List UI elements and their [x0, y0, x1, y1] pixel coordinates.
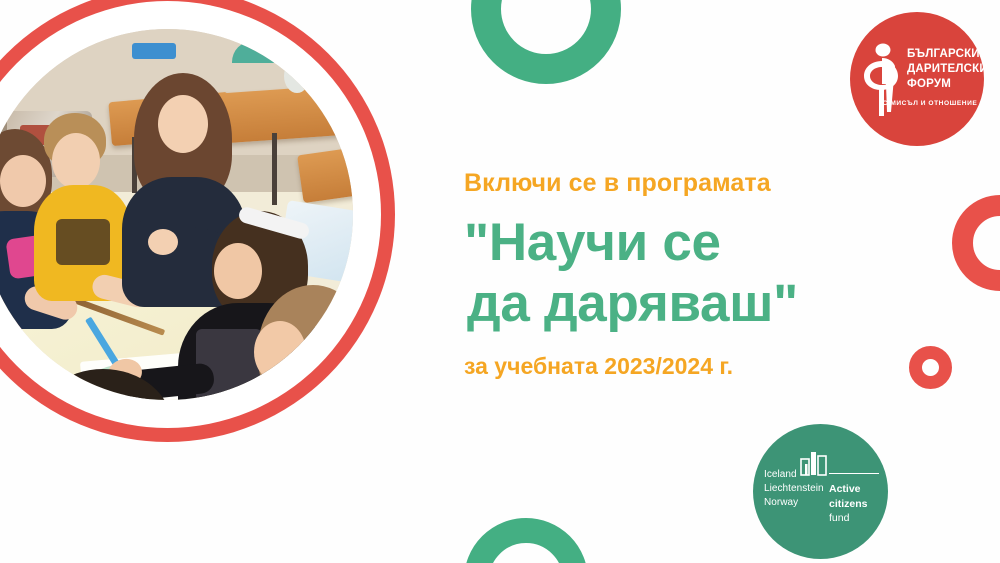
acf-country-liechtenstein: Liechtenstein	[764, 482, 824, 496]
tshirt-print	[56, 219, 110, 265]
wall-decoration-green	[312, 43, 352, 61]
acf-fund-name: Active citizens fund	[829, 482, 888, 526]
promo-slide: Включи се в програмата "Научи се да даря…	[0, 0, 1000, 563]
face	[158, 95, 208, 153]
desk-back-right	[212, 84, 353, 144]
red-ring-right-decoration	[952, 195, 1000, 291]
face	[254, 321, 306, 383]
bottle-right	[284, 59, 310, 93]
classroom-photo-scene	[0, 29, 353, 400]
wall-decoration-pink	[0, 59, 20, 85]
bdf-line-3: ФОРУМ	[907, 77, 983, 92]
eea-grants-buildings-icon	[800, 450, 830, 476]
acf-fund-citizens: citizens	[829, 498, 868, 510]
face	[0, 155, 46, 207]
hand	[148, 229, 178, 255]
acf-fund-line-1: Active	[829, 482, 888, 497]
acf-fund-suffix: fund	[829, 512, 849, 524]
desk-right-edge	[297, 143, 353, 203]
headline-line-2: да даряваш"	[467, 273, 934, 334]
classroom-photo	[0, 29, 353, 400]
active-citizens-fund-logo: Iceland Liechtenstein Norway Active citi…	[753, 424, 888, 559]
photo-frame-inner-ring	[0, 1, 381, 428]
face	[52, 133, 100, 189]
bdf-logo-text: БЪЛГАРСКИ ДАРИТЕЛСКИ ФОРУМ	[907, 47, 983, 92]
bdf-line-1: БЪЛГАРСКИ	[907, 47, 983, 62]
acf-divider-line	[829, 473, 879, 474]
acf-country-norway: Norway	[764, 496, 824, 510]
bdf-tagline: С МИСЪЛ И ОТНОШЕНИЕ	[876, 100, 984, 107]
bulgarian-donors-forum-logo: БЪЛГАРСКИ ДАРИТЕЛСКИ ФОРУМ С МИСЪЛ И ОТН…	[850, 12, 984, 146]
bdf-line-2: ДАРИТЕЛСКИ	[907, 62, 983, 77]
green-ring-top-decoration	[471, 0, 621, 84]
wall-decoration-teal	[232, 41, 274, 63]
desk-leg	[272, 133, 277, 205]
photo-frame-outer-ring	[0, 0, 395, 442]
face	[214, 243, 262, 299]
wall-decoration-blue	[132, 43, 176, 59]
headline-text-block: Включи се в програмата "Научи се да даря…	[464, 170, 934, 380]
page-title: "Научи се да даряваш"	[464, 212, 934, 335]
headline-line-1: "Научи се	[464, 212, 934, 273]
acf-fund-line-2: citizens fund	[829, 497, 888, 526]
kicker-text: Включи се в програмата	[464, 170, 934, 198]
green-ring-bottom-decoration	[464, 518, 588, 563]
donor-figure-icon	[862, 42, 908, 120]
school-year-text: за учебната 2023/2024 г.	[464, 353, 934, 380]
